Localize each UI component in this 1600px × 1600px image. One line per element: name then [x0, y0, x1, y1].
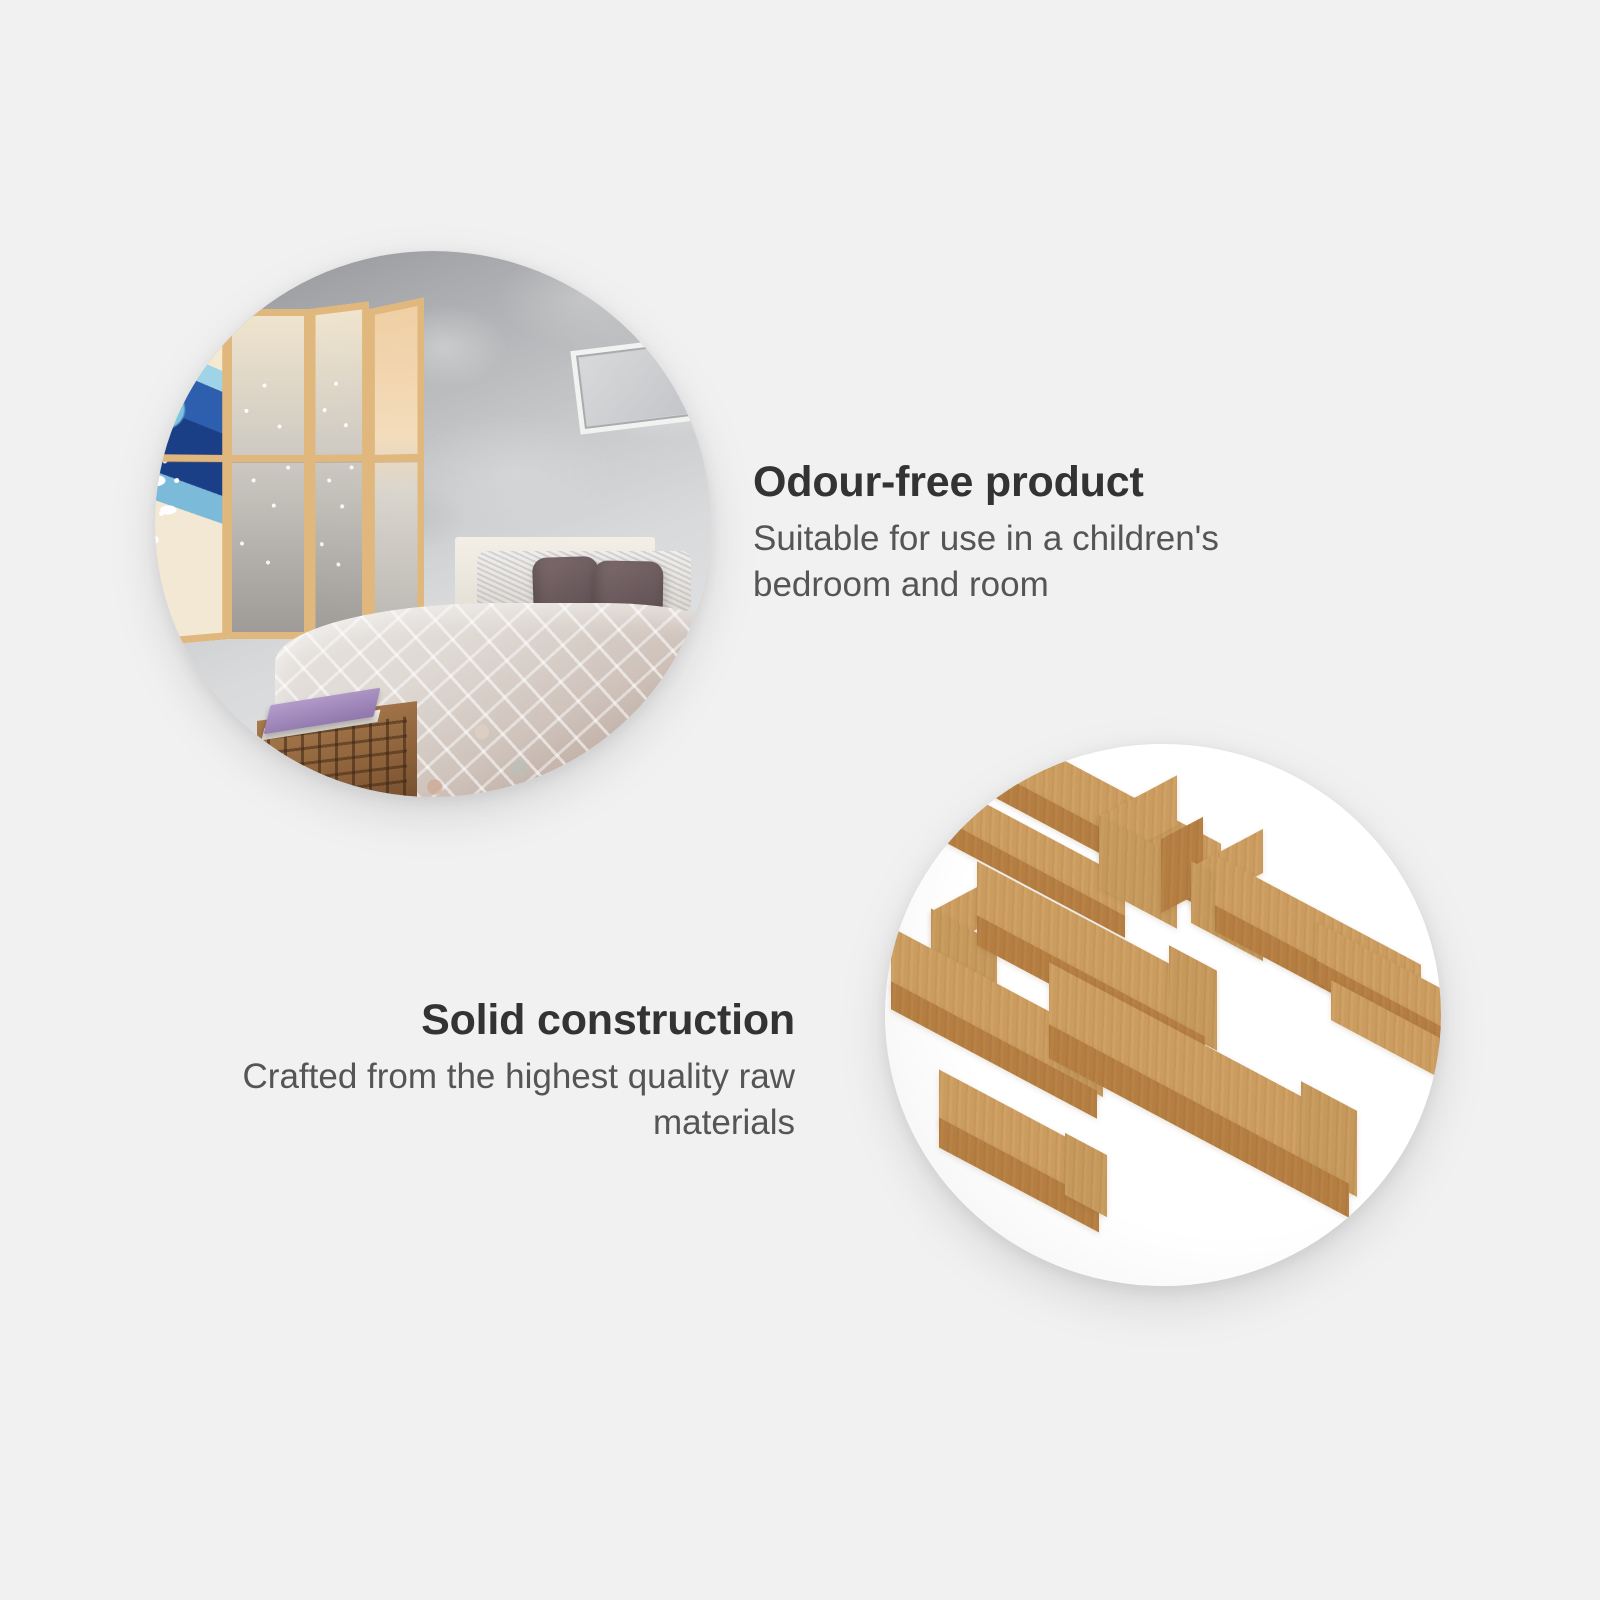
- stacked-wooden-planks-photo: [885, 744, 1441, 1286]
- screen-panel-2: [225, 309, 311, 639]
- folding-screen: [155, 309, 463, 639]
- feature-title: Solid construction: [235, 996, 795, 1044]
- bedroom-scene: [155, 251, 711, 797]
- feature-odour-free-text: Odour-free product Suitable for use in a…: [753, 458, 1313, 609]
- panel-mist-artwork: [232, 316, 304, 632]
- screen-panel-3: [309, 301, 369, 646]
- wood-planks-scene: [885, 744, 1441, 1286]
- feature-description: Crafted from the highest quality raw mat…: [235, 1054, 795, 1146]
- infographic-stage: Odour-free product Suitable for use in a…: [0, 0, 1600, 1600]
- bedroom-with-folding-screen-photo: [155, 251, 711, 797]
- panel-mist-artwork: [316, 309, 363, 638]
- feature-solid-construction-text: Solid construction Crafted from the high…: [235, 996, 795, 1147]
- screen-panel-4: [369, 297, 424, 651]
- panel-base: [375, 306, 418, 642]
- wall-picture-frame: [570, 335, 709, 434]
- wave-foam-specks: [155, 308, 222, 640]
- screen-panel-1: [155, 300, 229, 648]
- feature-description: Suitable for use in a children's bedroom…: [753, 516, 1313, 608]
- feature-title: Odour-free product: [753, 458, 1313, 506]
